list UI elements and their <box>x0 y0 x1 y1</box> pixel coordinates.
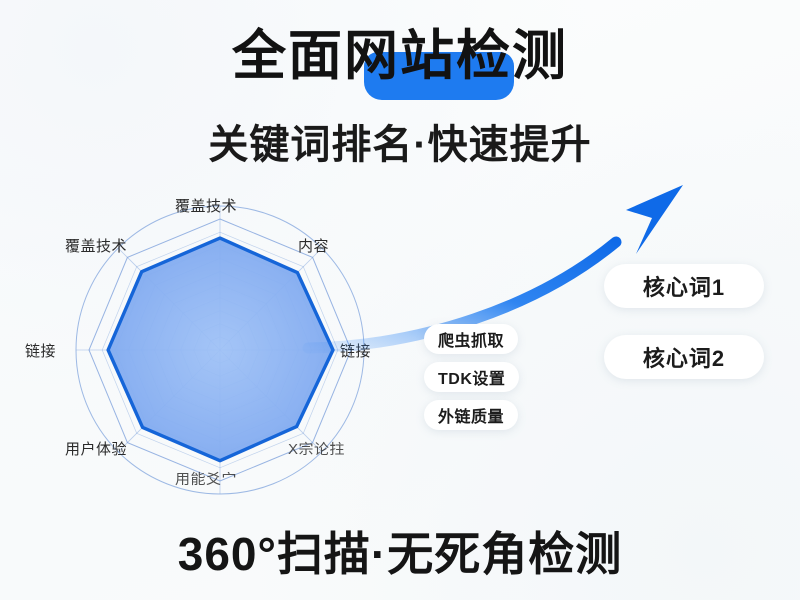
radar-label-top: 覆盖技术 <box>175 195 237 216</box>
headline-block: 全面网站检测 <box>0 28 800 85</box>
radar-label-bottom-left: 用户体验 <box>65 438 127 459</box>
tag-pill[interactable]: TDK设置 <box>424 362 519 392</box>
radar-label-top-left: 覆盖技术 <box>65 235 127 256</box>
tag-pill[interactable]: 外链质量 <box>424 400 518 430</box>
radar-label-bottom-right: X宗论拄 <box>288 438 345 458</box>
page-subtitle: 关键词排名·快速提升 <box>0 112 800 170</box>
page-title: 全面网站检测 <box>232 28 568 85</box>
keyword-pill[interactable]: 核心词1 <box>604 264 764 308</box>
keyword-pill[interactable]: 核心词2 <box>604 335 764 379</box>
radar-label-left: 链接 <box>25 340 56 361</box>
page-title-text: 全面网站检测 <box>232 26 568 86</box>
tag-pill[interactable]: 爬虫抓取 <box>424 324 518 354</box>
footer-tagline: 360°扫描·无死角检测 <box>0 518 800 584</box>
radar-label-bottom: 用能爻宀 <box>175 468 237 488</box>
